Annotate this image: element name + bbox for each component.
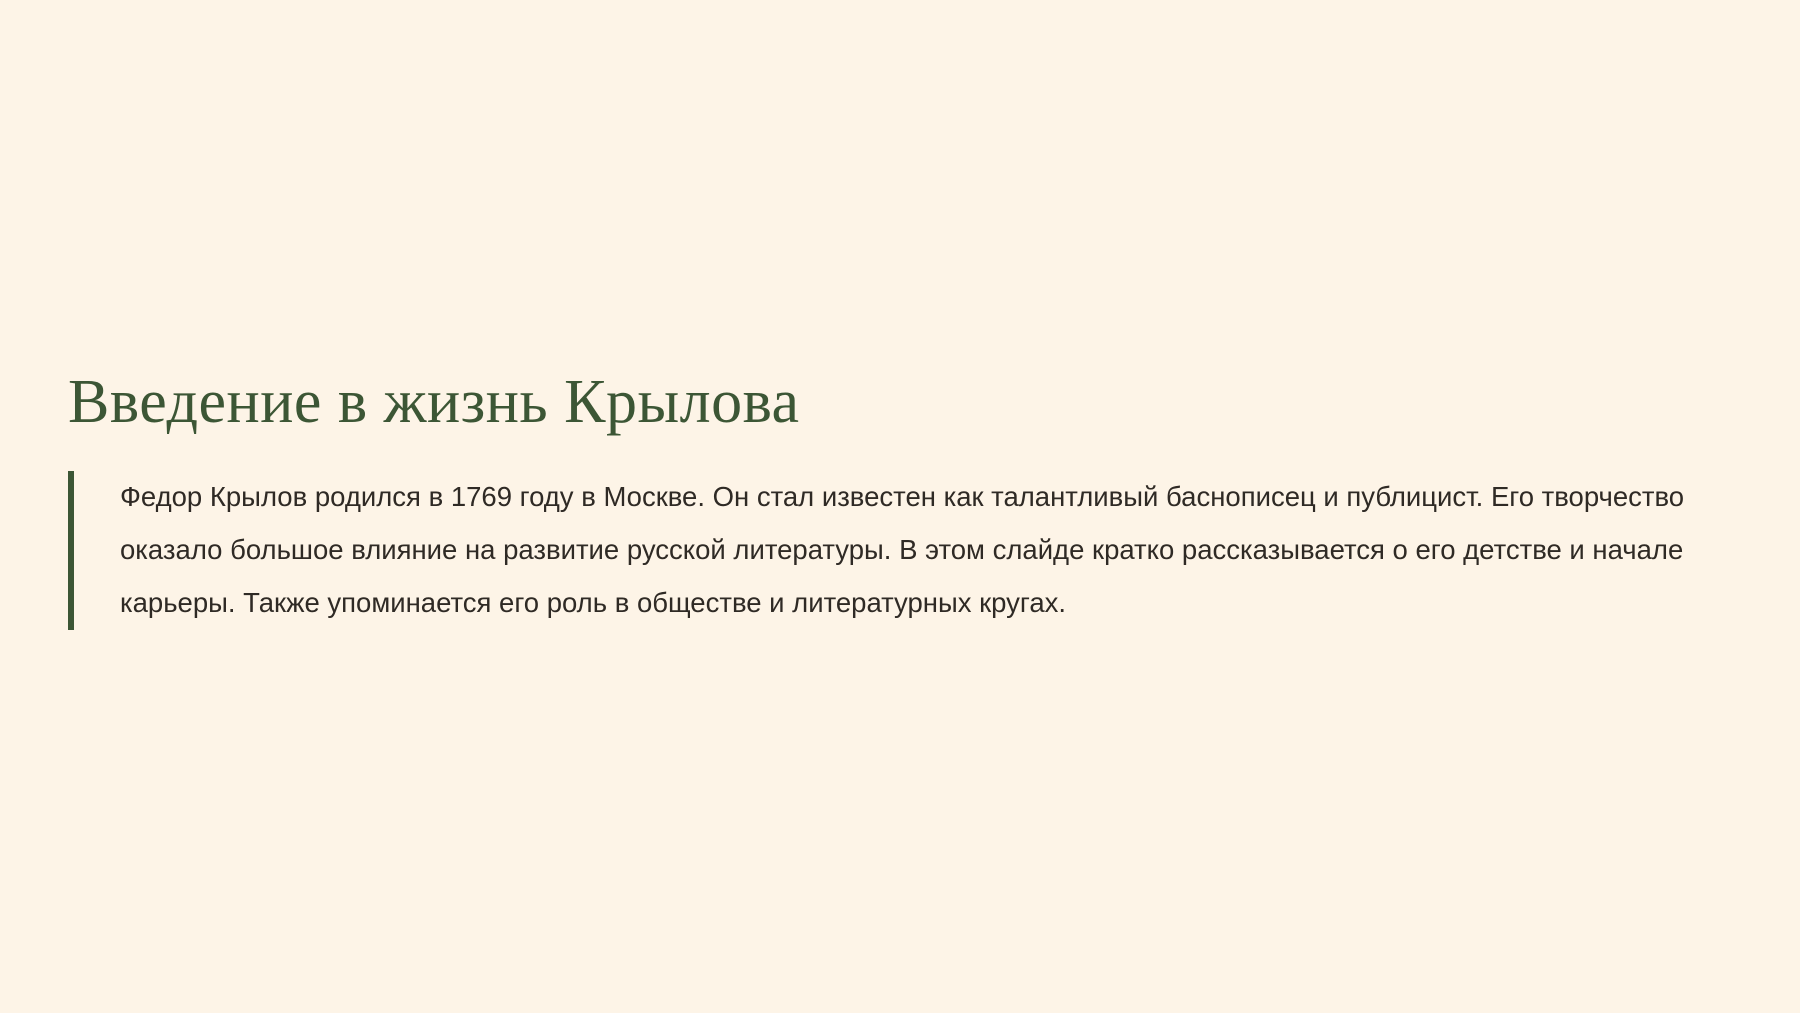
page-title: Введение в жизнь Крылова bbox=[68, 368, 1748, 437]
slide-content: Введение в жизнь Крылова Федор Крылов ро… bbox=[68, 368, 1748, 630]
slide-canvas: Введение в жизнь Крылова Федор Крылов ро… bbox=[0, 0, 1800, 1013]
body-paragraph: Федор Крылов родился в 1769 году в Москв… bbox=[120, 471, 1740, 629]
body-quote-block: Федор Крылов родился в 1769 году в Москв… bbox=[68, 471, 1740, 629]
